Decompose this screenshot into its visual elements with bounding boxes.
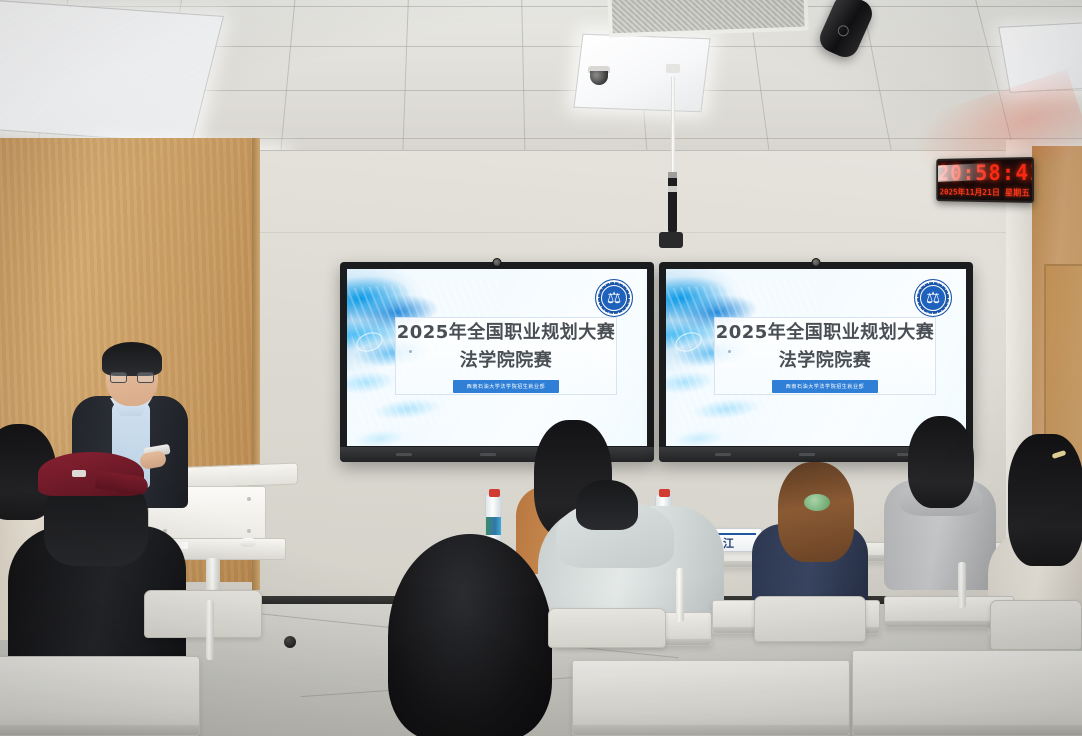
- ceiling-light-panel: [0, 0, 224, 144]
- microphone-ceiling-mount: [666, 64, 680, 73]
- desk-leg: [206, 600, 214, 660]
- slide-title-line1: 2025年全国职业规划大赛: [716, 318, 935, 344]
- interactive-display-left[interactable]: ⚖ 2025年全国职业规划大赛 法学院院赛 西南石油大学法学院招生就业部: [340, 262, 654, 462]
- display-camera-icon: [812, 258, 821, 267]
- hair-scrunchie: [804, 494, 830, 511]
- desk-leg: [676, 568, 684, 622]
- student-desk: [0, 656, 200, 736]
- ceiling-light-panel: [998, 21, 1082, 93]
- student-chair[interactable]: [754, 596, 866, 642]
- lectern-caster: [284, 636, 296, 648]
- slide-title-card: 2025年全国职业规划大赛 法学院院赛 西南石油大学法学院招生就业部: [395, 317, 617, 395]
- clock-time: 20:58:41: [938, 160, 1032, 185]
- student-chair[interactable]: [990, 600, 1082, 650]
- clock-date: 2025年11月21日 星期五: [938, 187, 1032, 199]
- scales-icon: ⚖: [607, 291, 621, 307]
- scales-icon: ⚖: [926, 291, 940, 307]
- desk-leg: [958, 562, 966, 608]
- scales-of-justice-emblem: ⚖: [595, 279, 633, 317]
- display-screen-left[interactable]: ⚖ 2025年全国职业规划大赛 法学院院赛 西南石油大学法学院招生就业部: [347, 269, 647, 446]
- display-camera-icon: [493, 258, 502, 267]
- student-desk: [852, 650, 1082, 736]
- classroom-scene: 20:58:41 2025年11月21日 星期五 ⚖ 2025年全国职业规划大赛…: [0, 0, 1082, 736]
- led-wall-clock: 20:58:41 2025年11月21日 星期五: [936, 157, 1034, 203]
- presenter-hair: [102, 342, 162, 376]
- student-chair[interactable]: [548, 608, 666, 648]
- display-screen-right[interactable]: ⚖ 2025年全国职业规划大赛 法学院院赛 西南石油大学法学院招生就业部: [666, 269, 966, 446]
- scales-of-justice-emblem: ⚖: [914, 279, 952, 317]
- slide-accent-dot: [728, 350, 731, 353]
- slide-accent-dot: [409, 350, 412, 353]
- glasses-icon: [110, 372, 154, 383]
- dome-camera: [588, 66, 610, 86]
- hanging-microphone: [668, 172, 677, 234]
- slide-title-line2: 法学院院赛: [779, 346, 872, 372]
- student-chair[interactable]: [144, 590, 262, 638]
- slide-title-card: 2025年全国职业规划大赛 法学院院赛 西南石油大学法学院招生就业部: [714, 317, 936, 395]
- slide-title-line2: 法学院院赛: [460, 346, 553, 372]
- student-desk: [572, 660, 850, 736]
- microphone-base-bracket: [659, 232, 683, 248]
- slide-title-line1: 2025年全国职业规划大赛: [397, 318, 616, 344]
- slide-ribbon: 西南石油大学法学院招生就业部: [453, 380, 559, 393]
- computer-mouse[interactable]: [240, 538, 256, 547]
- slide-ribbon: 西南石油大学法学院招生就业部: [772, 380, 878, 393]
